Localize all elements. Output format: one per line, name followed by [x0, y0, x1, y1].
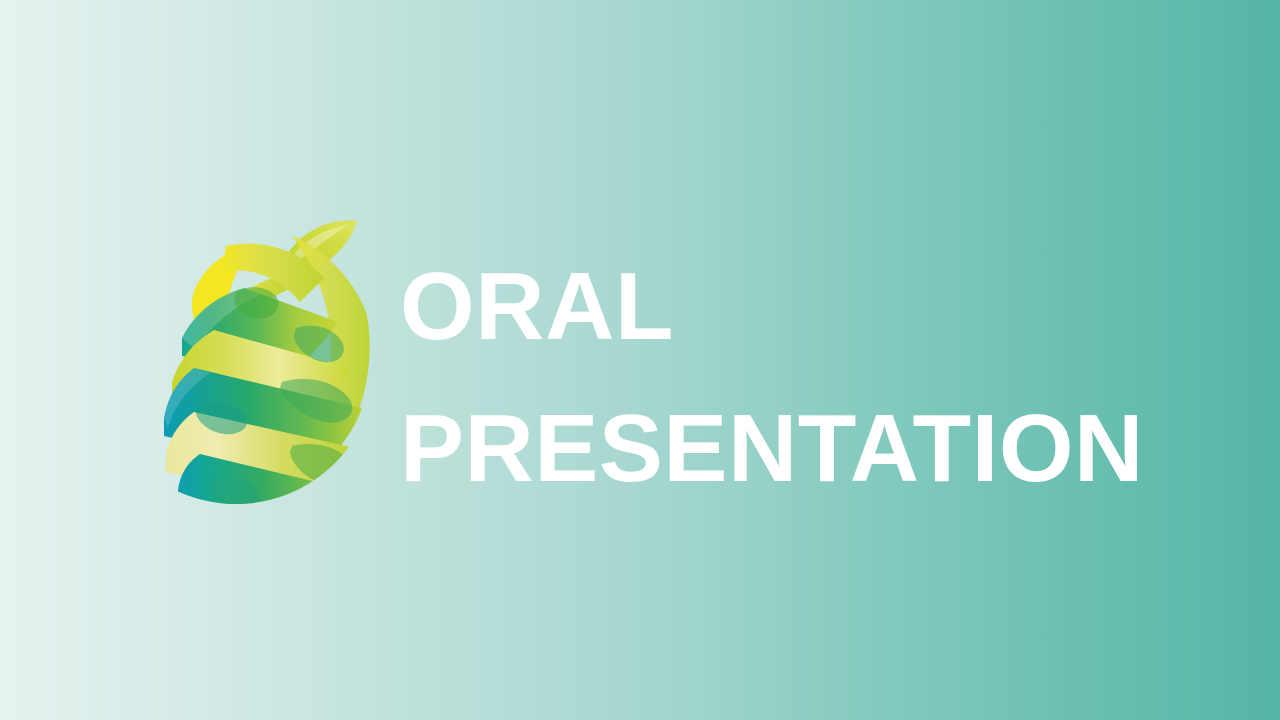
- title-line-presentation: PRESENTATION: [400, 378, 1220, 520]
- slide-title: ORAL PRESENTATION: [400, 236, 1220, 520]
- globe-ribbon-bands: [164, 226, 370, 516]
- globe-ribbon-leaf-logo: [86, 196, 386, 516]
- title-line-oral: ORAL: [400, 236, 1220, 378]
- presentation-slide: ORAL PRESENTATION: [0, 0, 1280, 720]
